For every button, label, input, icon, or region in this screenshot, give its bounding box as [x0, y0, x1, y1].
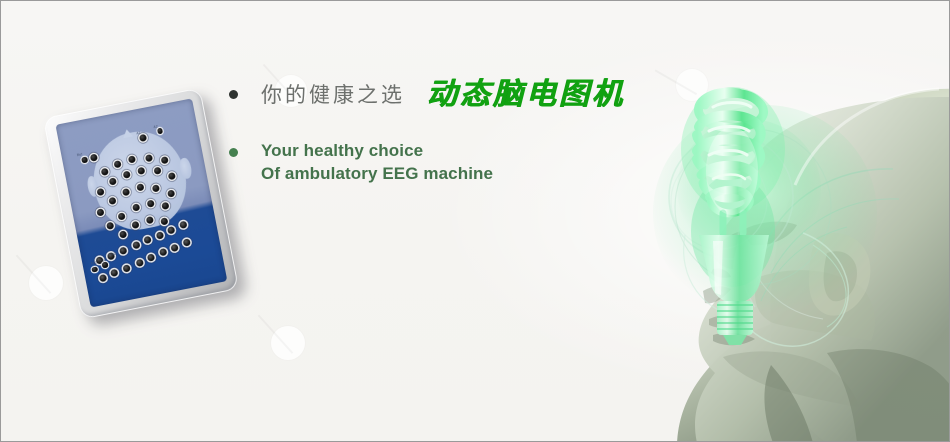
electrode-socket [119, 247, 127, 255]
device-panel: RefA1A2Fp1Fp2GND [55, 98, 227, 307]
headline-english-line2: Of ambulatory EEG machine [261, 162, 493, 185]
electrode-socket [182, 238, 190, 246]
electrode-label: Fp1 [91, 261, 98, 266]
headline-english: Your healthy choice Of ambulatory EEG ma… [261, 139, 493, 185]
headline-chinese-green: 动态脑电图机 [427, 81, 625, 109]
electrode-socket [111, 269, 119, 277]
head-bulb-artwork [527, 1, 950, 442]
electrode-socket [82, 157, 88, 163]
electrode-socket [167, 226, 175, 234]
electrode-socket [160, 217, 168, 225]
electrode-socket [96, 208, 104, 216]
electrode-socket [119, 231, 127, 239]
electrode-socket [144, 236, 152, 244]
electrode-socket [156, 231, 164, 239]
electrode-socket [106, 222, 114, 230]
electrode-socket [132, 241, 140, 249]
headline-chinese-gray: 你的健康之选 [261, 81, 405, 109]
promo-banner: RefA1A2Fp1Fp2GND [0, 0, 950, 442]
headline-row-chinese: 你的健康之选 动态脑电图机 [229, 81, 649, 109]
bullet-dark-icon [229, 90, 238, 99]
electrode-label: A1 [136, 131, 141, 136]
electrode-socket [159, 248, 167, 256]
head-montage-diagram [86, 124, 195, 236]
electrode-socket [171, 243, 179, 251]
headline-row-english: Your healthy choice Of ambulatory EEG ma… [229, 139, 649, 185]
copy-block: 你的健康之选 动态脑电图机 Your healthy choice Of amb… [229, 81, 649, 185]
electrode-socket [102, 262, 108, 268]
electrode-socket [92, 266, 98, 272]
electrode-socket [157, 128, 163, 134]
electrode-label: GND [109, 251, 117, 256]
electrode-socket [147, 253, 155, 261]
bullet-green-icon [229, 148, 238, 157]
electrode-socket [99, 274, 107, 282]
electrode-label: Ref [76, 152, 82, 157]
electrode-socket [135, 259, 143, 267]
electrode-socket [179, 221, 187, 229]
electrode-socket [122, 264, 130, 272]
electrode-label: A2 [153, 124, 158, 129]
headline-english-line1: Your healthy choice [261, 139, 493, 162]
electrode-socket [131, 221, 139, 229]
